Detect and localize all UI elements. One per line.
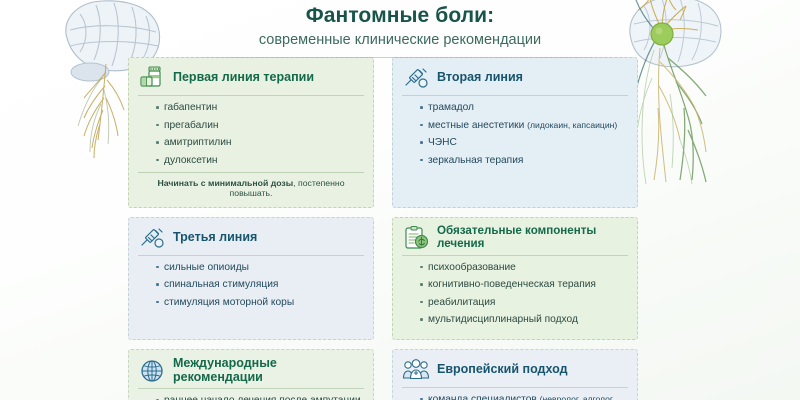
card-header: Третья линия — [138, 225, 364, 256]
card-title: Первая линия терапии — [173, 71, 314, 85]
card-item-list: сильные опиоиды спинальная стимуляция ст… — [138, 261, 364, 309]
list-item-detail: (лидокаин, капсаицин) — [527, 120, 617, 130]
page-title: Фантомные боли: — [0, 4, 800, 28]
card-header: Международные рекомендации — [138, 357, 364, 390]
page-subtitle: современные клинические рекомендации — [0, 32, 800, 49]
list-item: стимуляция моторной коры — [156, 296, 364, 309]
list-item: габапентин — [156, 101, 364, 114]
card-title: Вторая линия — [437, 71, 523, 85]
header-divider — [165, 57, 635, 58]
list-item: прегабалин — [156, 119, 364, 132]
card-title: Третья линия — [173, 231, 257, 245]
card-first-line-therapy[interactable]: Первая линия терапии габапентин прегабал… — [128, 57, 374, 208]
card-second-line[interactable]: Вторая линия трамадол местные анестетики… — [392, 57, 638, 208]
clipboard-brain-icon — [402, 225, 430, 251]
syringe-icon — [402, 65, 430, 91]
card-item-list: команда специалистов (невролог, алголог,… — [402, 393, 628, 400]
list-item: местные анестетики (лидокаин, капсаицин) — [420, 119, 628, 132]
recommendation-cards-grid: Первая линия терапии габапентин прегабал… — [128, 57, 638, 400]
card-footnote: Начинать с минимальной дозы, постепенно … — [138, 172, 364, 199]
medical-team-icon — [402, 357, 430, 383]
list-item: ЧЭНС — [420, 136, 628, 149]
list-item: команда специалистов (невролог, алголог,… — [420, 393, 628, 400]
card-header: Вторая линия — [402, 65, 628, 96]
list-item: психообразование — [420, 261, 628, 274]
pill-bottle-icon — [138, 65, 166, 91]
syringe-icon — [138, 225, 166, 251]
list-item: мультидисциплинарный подход — [420, 313, 628, 326]
list-item: амитриптилин — [156, 136, 364, 149]
card-international-guidelines[interactable]: Международные рекомендации раннее начало… — [128, 349, 374, 400]
card-title: Европейский подход — [437, 363, 568, 377]
page-header: Фантомные боли: современные клинические … — [0, 4, 800, 58]
globe-icon — [138, 358, 166, 384]
list-item: сильные опиоиды — [156, 261, 364, 274]
card-mandatory-components[interactable]: Обязательные компоненты лечения психообр… — [392, 217, 638, 340]
card-european-approach[interactable]: Европейский подход команда специалистов … — [392, 349, 638, 400]
list-item: когнитивно-поведенческая терапия — [420, 278, 628, 291]
list-item: спинальная стимуляция — [156, 278, 364, 291]
card-item-list: трамадол местные анестетики (лидокаин, к… — [402, 101, 628, 167]
list-item: реабилитация — [420, 296, 628, 309]
footnote-emphasis: Начинать с минимальной дозы — [157, 178, 293, 188]
card-title: Международные рекомендации — [173, 357, 364, 385]
card-header: Европейский подход — [402, 357, 628, 388]
card-item-list: габапентин прегабалин амитриптилин дулок… — [138, 101, 364, 167]
list-item: зеркальная терапия — [420, 154, 628, 167]
infographic-canvas: Фантомные боли: современные клинические … — [0, 0, 800, 400]
card-header: Первая линия терапии — [138, 65, 364, 96]
list-item: дулоксетин — [156, 154, 364, 167]
list-item: раннее начало лечения после ампутации — [156, 394, 364, 400]
card-title: Обязательные компоненты лечения — [437, 225, 628, 251]
card-third-line[interactable]: Третья линия сильные опиоиды спинальная … — [128, 217, 374, 340]
card-item-list: раннее начало лечения после ампутации ко… — [138, 394, 364, 400]
card-header: Обязательные компоненты лечения — [402, 225, 628, 256]
list-item: трамадол — [420, 101, 628, 114]
card-item-list: психообразование когнитивно-поведенческа… — [402, 261, 628, 327]
